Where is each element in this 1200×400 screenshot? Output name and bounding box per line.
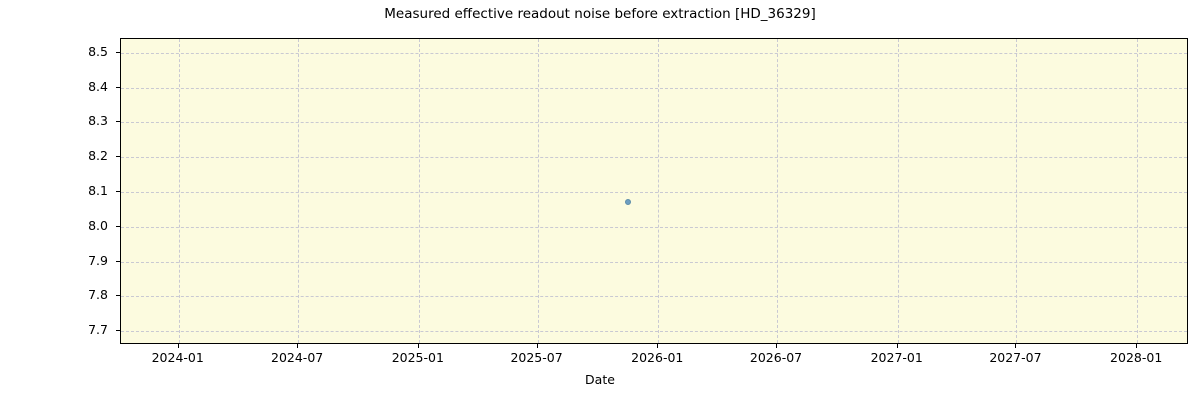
gridline-horizontal — [121, 262, 1187, 263]
x-tick-label: 2027-01 — [837, 350, 957, 365]
gridline-horizontal — [121, 192, 1187, 193]
gridline-horizontal — [121, 122, 1187, 123]
x-tick-label: 2026-01 — [597, 350, 717, 365]
y-tick-mark — [116, 226, 120, 227]
gridline-vertical — [179, 39, 180, 343]
gridline-vertical — [419, 39, 420, 343]
y-tick-mark — [116, 87, 120, 88]
y-tick-label: 7.7 — [50, 322, 108, 337]
plot-area — [120, 38, 1188, 344]
x-tick-mark — [657, 344, 658, 348]
gridline-horizontal — [121, 88, 1187, 89]
gridline-horizontal — [121, 296, 1187, 297]
x-tick-label: 2024-07 — [237, 350, 357, 365]
y-tick-label: 7.9 — [50, 253, 108, 268]
y-tick-label: 8.0 — [50, 218, 108, 233]
y-tick-mark — [116, 261, 120, 262]
gridline-vertical — [898, 39, 899, 343]
x-tick-label: 2025-07 — [477, 350, 597, 365]
gridline-vertical — [538, 39, 539, 343]
gridline-horizontal — [121, 331, 1187, 332]
gridline-horizontal — [121, 53, 1187, 54]
x-tick-label: 2028-01 — [1076, 350, 1196, 365]
x-tick-mark — [776, 344, 777, 348]
figure-canvas: Measured effective readout noise before … — [0, 0, 1200, 400]
x-tick-label: 2024-01 — [118, 350, 238, 365]
x-axis-label: Date — [0, 372, 1200, 387]
y-tick-label: 8.3 — [50, 113, 108, 128]
gridline-horizontal — [121, 157, 1187, 158]
data-point — [625, 199, 631, 205]
gridline-vertical — [298, 39, 299, 343]
gridline-vertical — [1016, 39, 1017, 343]
y-tick-mark — [116, 121, 120, 122]
y-tick-label: 8.5 — [50, 44, 108, 59]
x-tick-label: 2025-01 — [358, 350, 478, 365]
x-tick-mark — [418, 344, 419, 348]
y-tick-label: 8.2 — [50, 148, 108, 163]
x-tick-mark — [297, 344, 298, 348]
x-tick-label: 2027-07 — [955, 350, 1075, 365]
y-tick-mark — [116, 52, 120, 53]
y-tick-mark — [116, 330, 120, 331]
gridline-vertical — [1137, 39, 1138, 343]
y-tick-mark — [116, 191, 120, 192]
y-tick-label: 8.4 — [50, 79, 108, 94]
gridline-vertical — [658, 39, 659, 343]
gridline-vertical — [777, 39, 778, 343]
y-tick-label: 7.8 — [50, 287, 108, 302]
y-tick-label: 8.1 — [50, 183, 108, 198]
x-tick-mark — [178, 344, 179, 348]
x-tick-mark — [1015, 344, 1016, 348]
y-tick-mark — [116, 156, 120, 157]
x-tick-mark — [897, 344, 898, 348]
chart-title: Measured effective readout noise before … — [0, 6, 1200, 22]
x-tick-mark — [537, 344, 538, 348]
gridline-horizontal — [121, 227, 1187, 228]
y-tick-mark — [116, 295, 120, 296]
x-tick-mark — [1136, 344, 1137, 348]
x-tick-label: 2026-07 — [716, 350, 836, 365]
